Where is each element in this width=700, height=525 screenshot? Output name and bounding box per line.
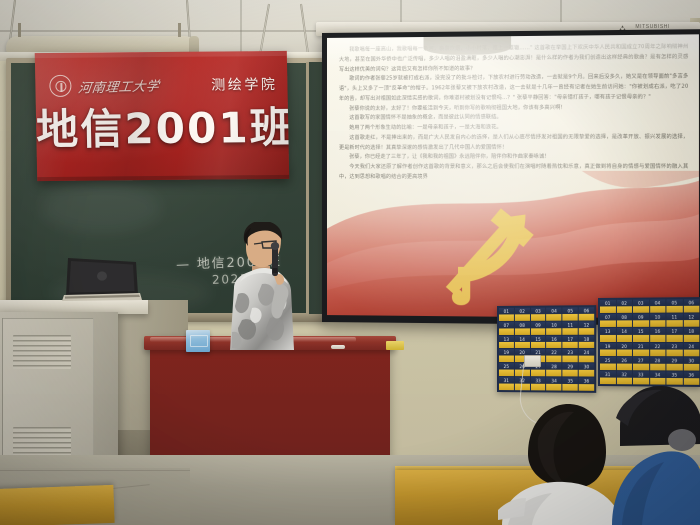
phone-pocket[interactable]: 09 — [633, 314, 649, 327]
phone-pocket[interactable]: 12 — [683, 314, 699, 327]
curtain-bracket — [178, 23, 181, 37]
student-back-figure-white — [498, 398, 628, 525]
class-banner: 河南理工大学 测绘学院 地信2001班 — [35, 51, 289, 181]
phone-pocket[interactable]: 05 — [666, 299, 682, 312]
phone-pocket[interactable]: 30 — [683, 357, 699, 370]
phone-pocket[interactable]: 22 — [547, 349, 562, 362]
phone-pocket[interactable]: 08 — [616, 314, 632, 327]
phone-pocket-number: 10 — [650, 314, 666, 321]
phone-pocket-number: 31 — [600, 371, 615, 378]
presenter-figure — [218, 222, 310, 352]
phone-pocket[interactable]: 30 — [579, 364, 594, 377]
phone-pocket[interactable]: 26 — [616, 357, 632, 370]
phone-pocket[interactable]: 27 — [633, 357, 649, 370]
phone-pocket-number: 16 — [547, 335, 562, 342]
emblem-inner-ring — [55, 80, 66, 91]
phone-pocket[interactable]: 07 — [499, 322, 514, 335]
phone-pocket-number: 04 — [650, 299, 666, 306]
phone-pocket[interactable]: 21 — [633, 343, 649, 356]
phone-pocket-number: 18 — [579, 335, 594, 342]
college-name: 测绘学院 — [211, 74, 277, 95]
phone-pocket[interactable]: 14 — [515, 336, 530, 349]
chalk-smudge — [41, 183, 161, 233]
phone-pocket-number: 02 — [515, 308, 530, 315]
phone-pocket[interactable]: 11 — [563, 321, 578, 334]
phone-pocket-number: 30 — [579, 364, 594, 371]
phone-pocket[interactable]: 13 — [499, 336, 514, 349]
phone-pocket[interactable]: 14 — [616, 328, 632, 341]
student-back-figure-blue — [612, 382, 700, 525]
phone-pocket[interactable]: 15 — [633, 328, 649, 341]
phone-pocket-number: 06 — [683, 299, 699, 306]
phone-pocket-number: 23 — [666, 343, 682, 350]
phone-pocket[interactable]: 02 — [515, 308, 530, 321]
banner-header-row: 河南理工大学 测绘学院 — [49, 73, 277, 97]
phone-pocket-number: 01 — [600, 300, 615, 307]
phone-pocket-number: 33 — [633, 371, 649, 378]
phone-pocket-number: 16 — [650, 328, 666, 335]
phone-pocket[interactable]: 01 — [600, 300, 615, 313]
phone-pocket[interactable]: 20 — [616, 343, 632, 356]
phone-pocket-number: 01 — [499, 308, 514, 315]
floor-grout-line — [0, 470, 190, 471]
phone-pocket-number: 12 — [683, 314, 699, 321]
phone-pocket[interactable]: 07 — [600, 314, 615, 327]
phone-pocket[interactable]: 03 — [531, 308, 546, 321]
phone-pocket-number: 24 — [579, 349, 594, 356]
phone-pocket-number: 08 — [616, 314, 632, 321]
phone-pocket-number: 10 — [547, 321, 562, 328]
phone-pocket[interactable]: 24 — [579, 349, 594, 362]
phone-pocket-number: 27 — [633, 357, 649, 364]
phone-pocket[interactable]: 25 — [499, 363, 514, 376]
phone-pocket-number: 25 — [499, 363, 514, 370]
phone-pocket-number: 22 — [547, 349, 562, 356]
phone-pocket[interactable]: 02 — [616, 300, 632, 313]
slide-paragraph: 张藜，你已经走了三年了，让《我和我的祖国》永远陪伴你，陪伴你和作曲家秦咏诚！ — [339, 153, 688, 163]
phone-pocket-number: 28 — [650, 357, 666, 364]
phone-pocket-number: 30 — [683, 357, 699, 364]
tissue-box[interactable] — [186, 330, 210, 352]
phone-pocket[interactable]: 01 — [499, 308, 514, 321]
phone-pocket-number: 11 — [563, 321, 578, 328]
banner-top-edge — [35, 51, 287, 58]
phone-pocket-number: 17 — [666, 328, 682, 335]
phone-pocket[interactable]: 04 — [650, 299, 666, 312]
phone-pocket-number: 36 — [683, 371, 699, 378]
phone-pocket-number: 26 — [616, 357, 632, 364]
phone-pocket[interactable]: 22 — [650, 343, 666, 356]
phone-pocket-number: 15 — [633, 328, 649, 335]
phone-pocket-number: 35 — [563, 378, 578, 385]
curtain-bracket — [18, 23, 21, 37]
phone-pocket-number: 07 — [600, 314, 615, 321]
phone-pocket[interactable]: 18 — [579, 335, 594, 348]
phone-pocket-number: 03 — [531, 308, 546, 315]
phone-pocket-board-right[interactable]: 0102030405060708091011121314151617181920… — [598, 297, 700, 387]
screen-shadow-patch — [424, 36, 512, 55]
phone-pocket-number: 14 — [515, 336, 530, 343]
phone-pocket[interactable]: 35 — [563, 378, 578, 391]
projection-screen: 我歌唱每一座高山，我歌唱每一条河，袅袅炊烟，小小村落，路上一道辙……" 这首歌在… — [322, 29, 700, 326]
laptop-icon — [62, 256, 144, 302]
phone-pocket-number: 25 — [600, 357, 615, 364]
phone-pocket-number: 07 — [499, 322, 514, 329]
phone-pocket-number: 17 — [563, 335, 578, 342]
audience-student-white-shirt — [498, 398, 628, 525]
phone-pocket[interactable]: 18 — [683, 328, 699, 341]
phone-pocket-number: 13 — [600, 328, 615, 335]
banner-class-name: 地信2001班 — [36, 107, 289, 151]
slide-paragraph: 今天我们大家还原了解作者创作这首歌的背景和意义，那么之后会使我们在演唱时随着热忱… — [339, 163, 688, 183]
phone-pocket-number: 22 — [650, 343, 666, 350]
phone-pocket-number: 19 — [600, 343, 615, 350]
phone-pocket[interactable]: 05 — [563, 307, 578, 320]
phone-pocket-number: 06 — [579, 307, 594, 314]
phone-pocket-number: 21 — [633, 343, 649, 350]
phone-pocket[interactable]: 28 — [650, 357, 666, 370]
phone-pocket[interactable]: 12 — [579, 321, 594, 334]
phone-pocket-number: 36 — [579, 378, 594, 385]
phone-pocket-number: 29 — [563, 364, 578, 371]
phone-pocket[interactable]: 17 — [666, 328, 682, 341]
phone-pocket-number: 29 — [666, 357, 682, 364]
phone-pocket-number: 05 — [666, 299, 682, 306]
phone-pocket[interactable]: 19 — [600, 343, 615, 356]
university-emblem-icon — [49, 75, 71, 97]
phone-pocket[interactable]: 08 — [515, 322, 530, 335]
phone-pocket-number: 18 — [683, 328, 699, 335]
slide-text-body: 我歌唱每一座高山，我歌唱每一条河，袅袅炊烟，小小村落，路上一道辙……" 这首歌在… — [327, 34, 699, 318]
marker-pen[interactable] — [331, 345, 345, 349]
phone-pocket[interactable]: 24 — [683, 343, 699, 356]
phone-pocket[interactable]: 10 — [650, 314, 666, 327]
phone-pocket-number: 31 — [499, 377, 514, 384]
projected-slide: 我歌唱每一座高山，我歌唱每一条河，袅袅炊烟，小小村落，路上一道辙……" 这首歌在… — [327, 34, 699, 318]
presenter-student — [218, 222, 310, 352]
phone-pocket[interactable]: 31 — [499, 377, 514, 390]
phone-pocket[interactable]: 09 — [531, 322, 546, 335]
phone-pocket-number: 05 — [563, 307, 578, 314]
phone-pocket[interactable]: 10 — [547, 321, 562, 334]
phone-pocket-number: 35 — [666, 371, 682, 378]
phone-pocket-number: 15 — [531, 336, 546, 343]
phone-pocket-number: 08 — [515, 322, 530, 329]
phone-pocket-number: 12 — [579, 321, 594, 328]
slide-paragraph: 歌词的作者张藜25岁就被打成右派，没完没了的批斗检讨，下放农村进行劳动改造，一去… — [339, 73, 688, 105]
phone-pocket[interactable]: 15 — [531, 336, 546, 349]
phone-pocket[interactable]: 11 — [666, 314, 682, 327]
phone-pocket-number: 02 — [616, 300, 632, 307]
phone-pocket-number: 13 — [499, 336, 514, 343]
phone-pocket[interactable]: 16 — [650, 328, 666, 341]
phone-pocket-number: 23 — [563, 349, 578, 356]
phone-pocket[interactable]: 23 — [563, 349, 578, 362]
phone-pocket[interactable]: 23 — [666, 343, 682, 356]
phone-pocket-number: 04 — [547, 307, 562, 314]
student-desk-left[interactable] — [0, 485, 115, 525]
classroom-photo-scene: 红歌传唱 — 地信2001班 2021.9 河南理工大学 测绘学院 地信2001… — [0, 0, 700, 525]
phone-pocket[interactable]: 19 — [499, 349, 514, 362]
phone-pocket-number: 03 — [633, 300, 649, 307]
phone-pocket-number: 34 — [650, 371, 666, 378]
phone-pocket-number: 14 — [616, 328, 632, 335]
phone-pocket-number: 09 — [633, 314, 649, 321]
phone-pocket-number: 32 — [616, 371, 632, 378]
small-yellow-box[interactable] — [386, 341, 404, 350]
phone-pocket-number: 24 — [683, 343, 699, 350]
phone-pocket[interactable]: 17 — [563, 335, 578, 348]
phone-pocket[interactable]: 29 — [563, 364, 578, 377]
university-name: 河南理工大学 — [77, 75, 161, 96]
laptop[interactable] — [62, 256, 144, 302]
phone-pocket[interactable]: 36 — [579, 378, 594, 391]
phone-pocket-number: 20 — [616, 343, 632, 350]
phone-pocket[interactable]: 13 — [600, 328, 615, 341]
slide-paragraph: 我歌唱每一座高山，我歌唱每一条河，袅袅炊烟，小小村落，路上一道辙……" 这首歌在… — [339, 43, 688, 76]
phone-pocket[interactable]: 06 — [683, 299, 699, 313]
phone-pocket-number: 19 — [499, 349, 514, 356]
audience-student-blue-shirt — [612, 382, 700, 525]
phone-pocket[interactable]: 29 — [666, 357, 682, 370]
ceiling-panel-line — [240, 0, 242, 58]
slide-paragraph: 这首歌走红，不是捧出来的，而是广大人民发自内心的选择，是人们从心底尽情抒发对祖国… — [339, 133, 688, 154]
phone-pocket[interactable]: 04 — [547, 307, 562, 320]
phone-pocket[interactable]: 25 — [600, 357, 615, 370]
phone-pocket-number: 09 — [531, 322, 546, 329]
phone-pocket-number: 11 — [666, 314, 682, 321]
phone-pocket[interactable]: 16 — [547, 335, 562, 348]
phone-pocket[interactable]: 03 — [633, 300, 649, 313]
phone-pocket[interactable]: 06 — [579, 307, 594, 320]
cabinet-vent-louver — [13, 335, 71, 369]
